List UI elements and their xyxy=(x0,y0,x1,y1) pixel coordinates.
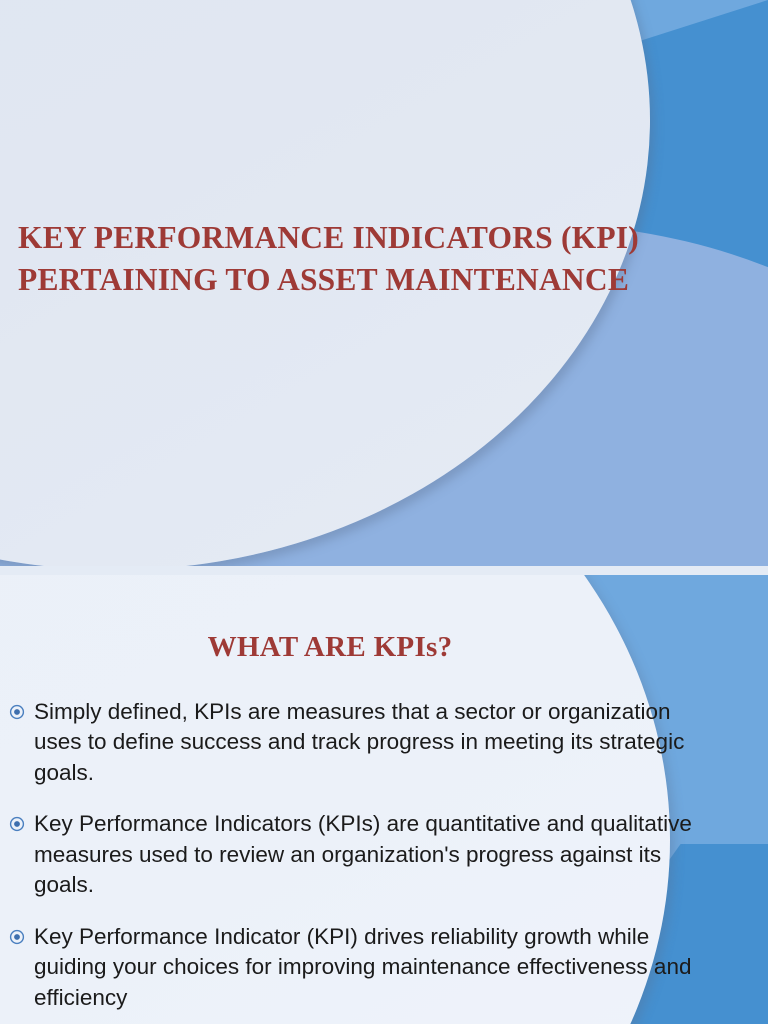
circled-dot-bullet-icon xyxy=(0,922,34,945)
slide-2-heading: WHAT ARE KPIs? xyxy=(0,631,660,664)
list-item: Simply defined, KPIs are measures that a… xyxy=(0,697,710,788)
circled-dot-bullet-icon xyxy=(0,809,34,832)
slide-2-bullet-list: Simply defined, KPIs are measures that a… xyxy=(0,697,710,1034)
slide-1-title-line-1: KEY PERFORMANCE INDICATORS (KPI) xyxy=(18,217,708,259)
slide-1-title: KEY PERFORMANCE INDICATORS (KPI) PERTAIN… xyxy=(18,217,708,301)
slide-deck: KEY PERFORMANCE INDICATORS (KPI) PERTAIN… xyxy=(0,0,768,1024)
circled-dot-bullet-icon xyxy=(0,697,34,720)
slide-1-title-slide: KEY PERFORMANCE INDICATORS (KPI) PERTAIN… xyxy=(0,0,768,575)
list-item-text: Key Performance Indicator (KPI) drives r… xyxy=(34,922,710,1013)
slide-1-footer-strip xyxy=(0,566,768,575)
list-item: Key Performance Indicator (KPI) drives r… xyxy=(0,922,710,1013)
slide-1-title-line-2: PERTAINING TO ASSET MAINTENANCE xyxy=(18,259,708,301)
list-item-text: Key Performance Indicators (KPIs) are qu… xyxy=(34,809,710,900)
list-item: Key Performance Indicators (KPIs) are qu… xyxy=(0,809,710,900)
list-item-text: Simply defined, KPIs are measures that a… xyxy=(34,697,710,788)
